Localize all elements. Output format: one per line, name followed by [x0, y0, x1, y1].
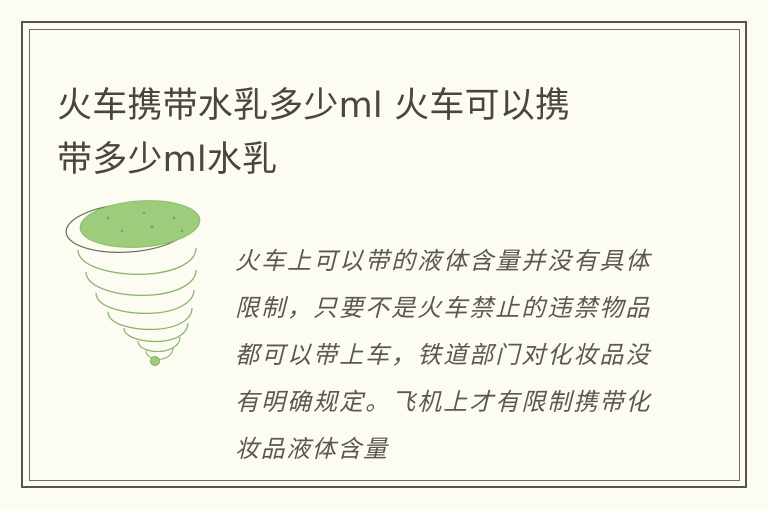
article-body: 火车上可以带的液体含量并没有具体限制，只要不是火车禁止的违禁物品都可以带上车，铁…: [235, 238, 651, 473]
page-title: 火车携带水乳多少ml 火车可以携 带多少ml水乳: [57, 79, 657, 187]
article-card: 火车携带水乳多少ml 火车可以携 带多少ml水乳 火车上可以带的: [0, 0, 768, 510]
tornado-illustration: [56, 196, 216, 366]
